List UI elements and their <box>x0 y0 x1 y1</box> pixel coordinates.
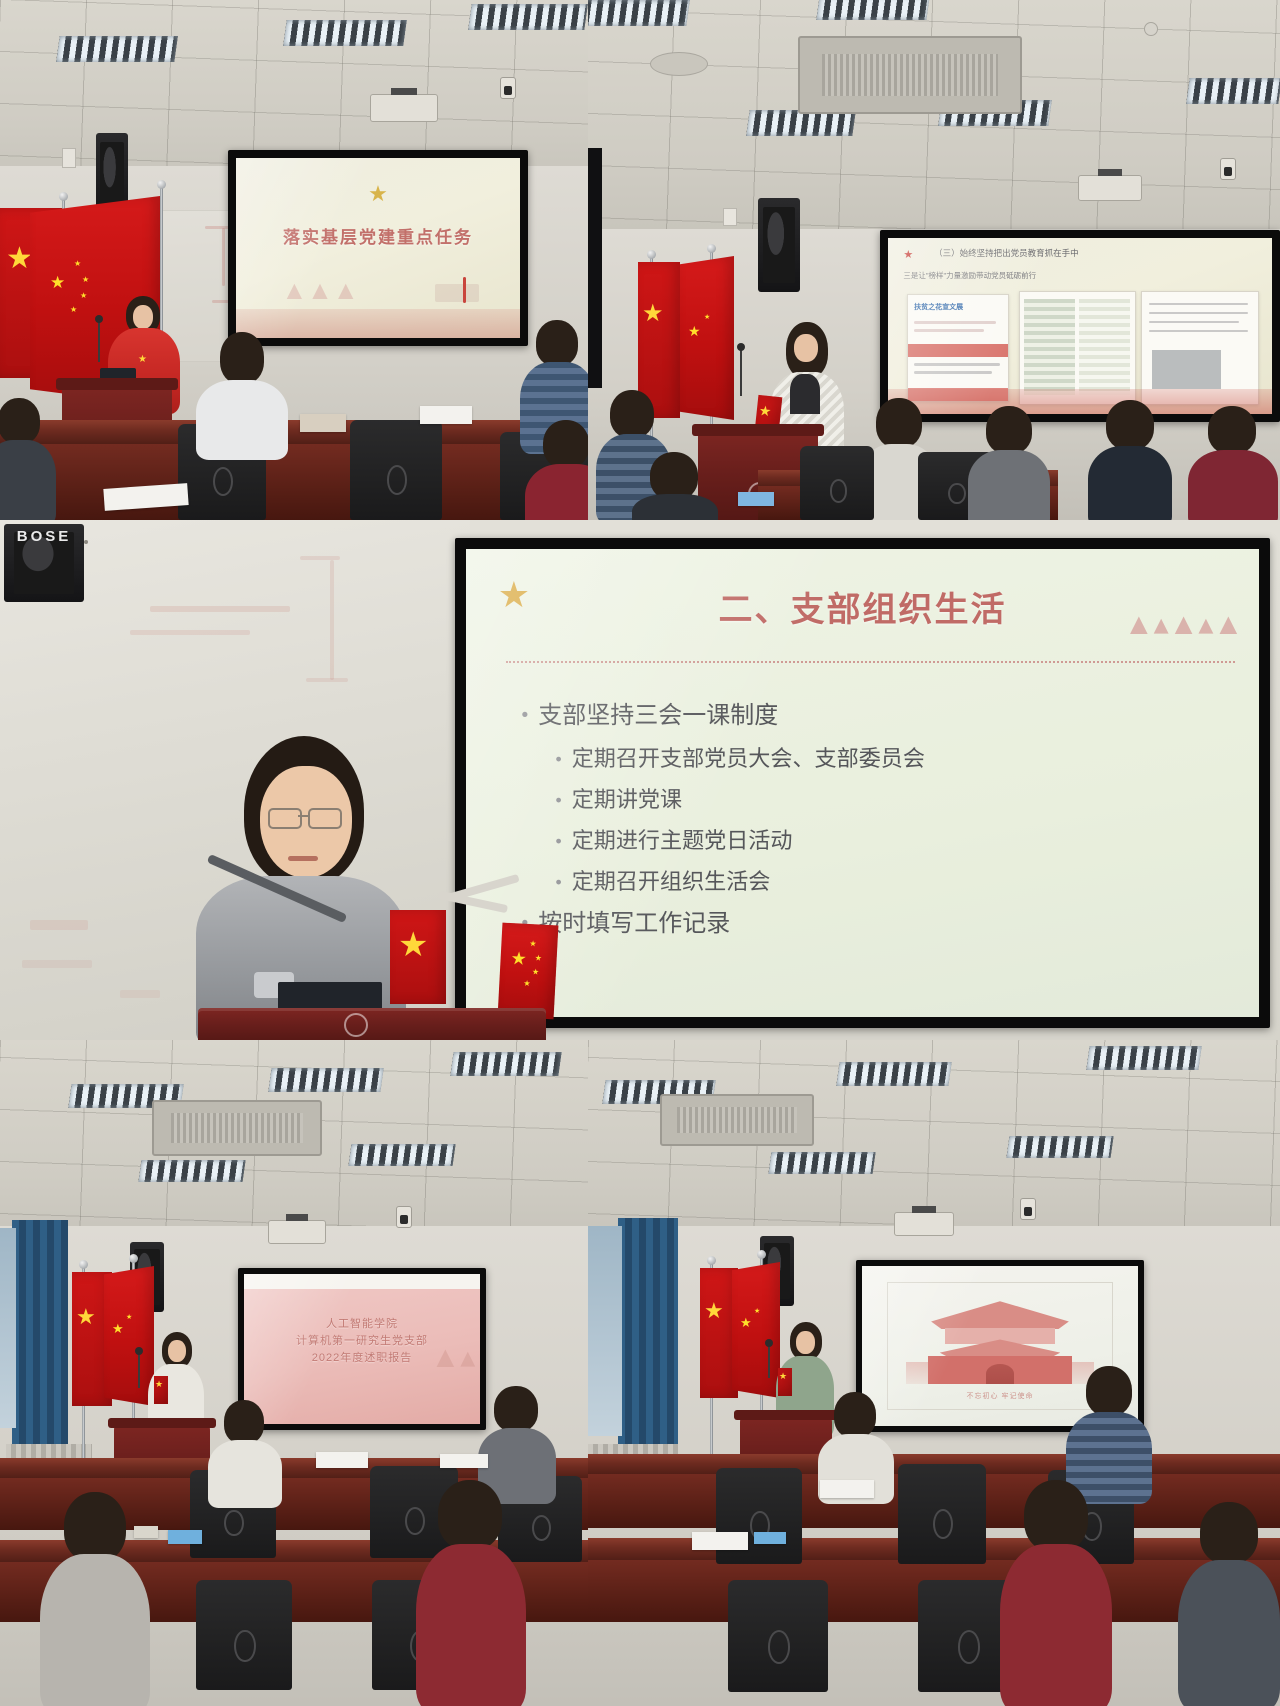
attendee <box>968 406 1050 520</box>
slide-bullet: 定期召开组织生活会 <box>522 866 1228 898</box>
ceiling-lamp <box>588 0 690 26</box>
attendee <box>416 1480 526 1706</box>
smoke-detector <box>1144 22 1158 36</box>
ceiling-lamp <box>816 0 929 20</box>
chair <box>898 1464 986 1564</box>
slide-center: ★ 二、支部组织生活 ▲▴▲▴▲ 支部坚持三会一课制度 定期召开支部党员大会、支… <box>466 549 1259 1017</box>
ceiling-lamp <box>468 4 588 30</box>
eyeglasses <box>268 808 302 829</box>
slide-bullet: 按时填写工作记录 <box>522 907 1228 942</box>
projector <box>370 94 438 122</box>
slide-bullet: 定期进行主题党日活动 <box>522 825 1228 857</box>
national-flag: ★ ★ <box>104 1266 154 1406</box>
ceiling-lamp <box>1186 78 1280 104</box>
wall-switch[interactable] <box>62 148 76 168</box>
attendee <box>632 452 718 520</box>
attendee <box>208 1400 282 1500</box>
party-emblem-icon: ★ <box>368 183 388 205</box>
document <box>420 406 472 424</box>
notebook <box>300 414 346 432</box>
panel-bottom-left: ★ ★ ★ 人工智能学院 计算机第一研究生党支部 2022年度述职报告 <box>0 1040 588 1706</box>
slide-bullet: 定期召开支部党员大会、支部委员会 <box>522 743 1228 775</box>
ceiling-lamp <box>768 1152 875 1174</box>
bose-logo: BOSE <box>4 524 84 548</box>
ceiling-lamp <box>268 1068 383 1092</box>
national-flag: ★ ★ <box>732 1262 780 1398</box>
national-flag: ★ ★ <box>680 256 734 420</box>
wall-switch[interactable] <box>723 208 737 226</box>
desk-national-flag: ★ ★ ★ ★ ★ <box>498 923 559 1020</box>
ceiling-lamp <box>138 1160 245 1182</box>
wall-speaker <box>758 198 800 292</box>
window <box>588 1226 622 1436</box>
window <box>0 1228 16 1428</box>
window-curtain <box>12 1220 68 1450</box>
air-conditioner <box>152 1100 322 1156</box>
document <box>692 1532 748 1550</box>
phone <box>134 1526 158 1538</box>
blue-card <box>738 492 774 506</box>
thumb-caption: 扶贫之花宣文展 <box>914 302 963 312</box>
chair <box>196 1580 292 1690</box>
slide-top-right: ★ （三）始终坚持把出党员教育抓在手中 三是让"榜样"力量激励带动党员砥砺前行 … <box>888 238 1272 414</box>
slide-top-left: ★ 落实基层党建重点任务 ▲▲▲ <box>236 158 520 338</box>
panel-top-left: ★ ★ ★ ★ ★ ★ ★ 落实基层党建重点任务 ▲▲▲ <box>0 0 588 520</box>
ceiling-lamp <box>283 20 407 46</box>
slide-title: （三）始终坚持把出党员教育抓在手中 <box>934 247 1257 259</box>
ceiling-camera <box>1020 1198 1036 1220</box>
podium <box>198 1008 546 1040</box>
projection-screen: ★ （三）始终坚持把出党员教育抓在手中 三是让"榜样"力量激励带动党员砥砺前行 … <box>880 230 1280 422</box>
slide-title: 落实基层党建重点任务 <box>236 223 520 248</box>
microphone <box>98 320 100 362</box>
ceiling-lamp <box>836 1062 951 1086</box>
blue-card <box>168 1530 202 1544</box>
window-curtain <box>618 1218 678 1454</box>
eyeglasses <box>308 808 342 829</box>
attendee <box>1088 400 1172 520</box>
slide-bullet: 定期讲党课 <box>522 784 1228 816</box>
adjacent-screen-edge <box>588 148 602 388</box>
slide-subtitle: 三是让"榜样"力量激励带动党员砥砺前行 <box>903 270 1256 281</box>
chair <box>728 1580 828 1692</box>
attendee <box>525 420 588 520</box>
air-conditioner <box>798 36 1022 114</box>
ceiling-lamp <box>1006 1136 1113 1158</box>
projection-screen: ★ 二、支部组织生活 ▲▴▲▴▲ 支部坚持三会一课制度 定期召开支部党员大会、支… <box>455 538 1270 1028</box>
chair <box>800 446 874 520</box>
ceiling-speaker <box>650 52 708 76</box>
blue-card <box>754 1532 786 1544</box>
panel-top-right: ★ ★ ★ ★ （三）始终坚持把出党员教育抓在手中 三是让"榜样"力量激励带动党… <box>588 0 1280 520</box>
panel-bottom-right: ★ ★ ★ <box>588 1040 1280 1706</box>
ceiling-camera <box>1220 158 1236 180</box>
panel-center-main: BOSE ★ 二、支部组织生活 ▲▴▲▴▲ 支部坚持三会一课制度 定期召开支部党… <box>0 520 1280 1040</box>
slide-line-1: 人工智能学院 <box>244 1316 480 1333</box>
mouth <box>288 856 318 861</box>
wall-speaker: BOSE <box>4 524 84 602</box>
document <box>316 1452 368 1468</box>
projector <box>894 1212 954 1236</box>
microphone <box>768 1344 770 1378</box>
attendee <box>1188 406 1278 520</box>
attendee <box>1178 1502 1280 1706</box>
document <box>820 1480 874 1498</box>
ceiling-lamp <box>1086 1046 1201 1070</box>
microphone <box>138 1352 140 1388</box>
attendee <box>40 1492 150 1706</box>
document <box>440 1454 488 1468</box>
slide-bullet: 支部坚持三会一课制度 <box>522 699 1228 734</box>
projector <box>1078 175 1142 201</box>
ceiling-lamp <box>56 36 178 62</box>
photo-collage: ★ ★ ★ ★ ★ ★ ★ 落实基层党建重点任务 ▲▲▲ <box>0 0 1280 1706</box>
attendee <box>1066 1366 1152 1498</box>
projector <box>268 1220 326 1244</box>
ceiling-lamp <box>450 1052 561 1076</box>
ceiling-camera <box>500 77 516 99</box>
microphone <box>740 348 742 396</box>
chair <box>350 420 442 520</box>
ceiling-camera <box>396 1206 412 1228</box>
attendee <box>1000 1480 1112 1706</box>
desk-party-flag: ★ <box>390 910 446 1004</box>
ceiling-lamp <box>348 1144 455 1166</box>
projection-screen: ★ 落实基层党建重点任务 ▲▲▲ <box>228 150 528 346</box>
air-conditioner <box>660 1094 814 1146</box>
attendee <box>196 332 288 452</box>
attendee <box>0 398 56 520</box>
